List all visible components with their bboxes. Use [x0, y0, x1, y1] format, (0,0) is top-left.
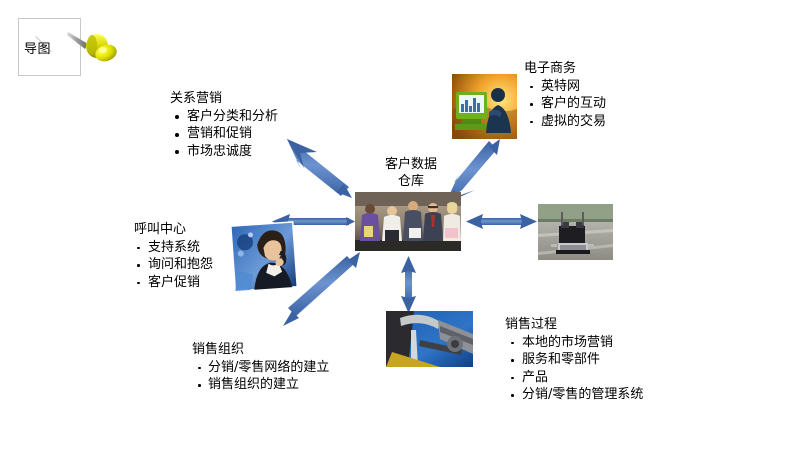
arrow-to-industry [401, 256, 416, 313]
diagram-canvas [0, 0, 800, 450]
list-ecommerce: 英特网 客户的互动 虚拟的交易 [524, 78, 606, 131]
photo-truck [538, 204, 613, 260]
yellow-pushpin-icon[interactable] [66, 26, 120, 70]
list-callcenter: 支持系统 询问和抱怨 客户促销 [134, 239, 213, 292]
list-item: 客户的互动 [524, 95, 606, 113]
arrow-to-truck [466, 214, 537, 229]
list-item: 客户分类和分析 [170, 108, 278, 126]
list-item: 询问和抱怨 [134, 256, 213, 274]
list-item: 虚拟的交易 [524, 113, 606, 131]
photo-callcenter [231, 222, 297, 291]
arrow-to-relationship-marketing [287, 139, 352, 198]
center-node-label: 客户数据 仓库 [366, 156, 456, 190]
label-callcenter: 呼叫中心 支持系统 询问和抱怨 客户促销 [134, 221, 213, 291]
list-relationship-marketing: 客户分类和分析 营销和促销 市场忠诚度 [170, 108, 278, 161]
list-sales-process: 本地的市场营销 服务和零部件 产品 分销/零售的管理系统 [505, 334, 643, 404]
label-ecommerce: 电子商务 英特网 客户的互动 虚拟的交易 [524, 60, 606, 130]
list-item: 营销和促销 [170, 125, 278, 143]
list-item: 服务和零部件 [505, 351, 643, 369]
heading-sales-process: 销售过程 [505, 316, 643, 334]
heading-ecommerce: 电子商务 [524, 60, 606, 78]
photo-industry [386, 311, 473, 367]
list-sales-organization: 分销/零售网络的建立 销售组织的建立 [192, 359, 329, 394]
photo-customer-data-warehouse [355, 192, 461, 251]
list-item: 产品 [505, 369, 643, 387]
list-item: 销售组织的建立 [192, 376, 329, 394]
note-card-label: 导图 [24, 42, 51, 57]
photo-ecommerce [452, 74, 517, 139]
center-label-line-1: 客户数据 [366, 156, 456, 173]
heading-sales-organization: 销售组织 [192, 341, 329, 359]
list-item: 英特网 [524, 78, 606, 96]
list-item: 客户促销 [134, 274, 213, 292]
center-label-line-2: 仓库 [366, 173, 456, 190]
list-item: 分销/零售的管理系统 [505, 386, 643, 404]
list-item: 支持系统 [134, 239, 213, 257]
heading-relationship-marketing: 关系营销 [170, 90, 278, 108]
label-sales-process: 销售过程 本地的市场营销 服务和零部件 产品 分销/零售的管理系统 [505, 316, 643, 404]
label-sales-organization: 销售组织 分销/零售网络的建立 销售组织的建立 [192, 341, 329, 394]
label-relationship-marketing: 关系营销 客户分类和分析 营销和促销 市场忠诚度 [170, 90, 278, 160]
list-item: 市场忠诚度 [170, 143, 278, 161]
list-item: 分销/零售网络的建立 [192, 359, 329, 377]
heading-callcenter: 呼叫中心 [134, 221, 213, 239]
list-item: 本地的市场营销 [505, 334, 643, 352]
